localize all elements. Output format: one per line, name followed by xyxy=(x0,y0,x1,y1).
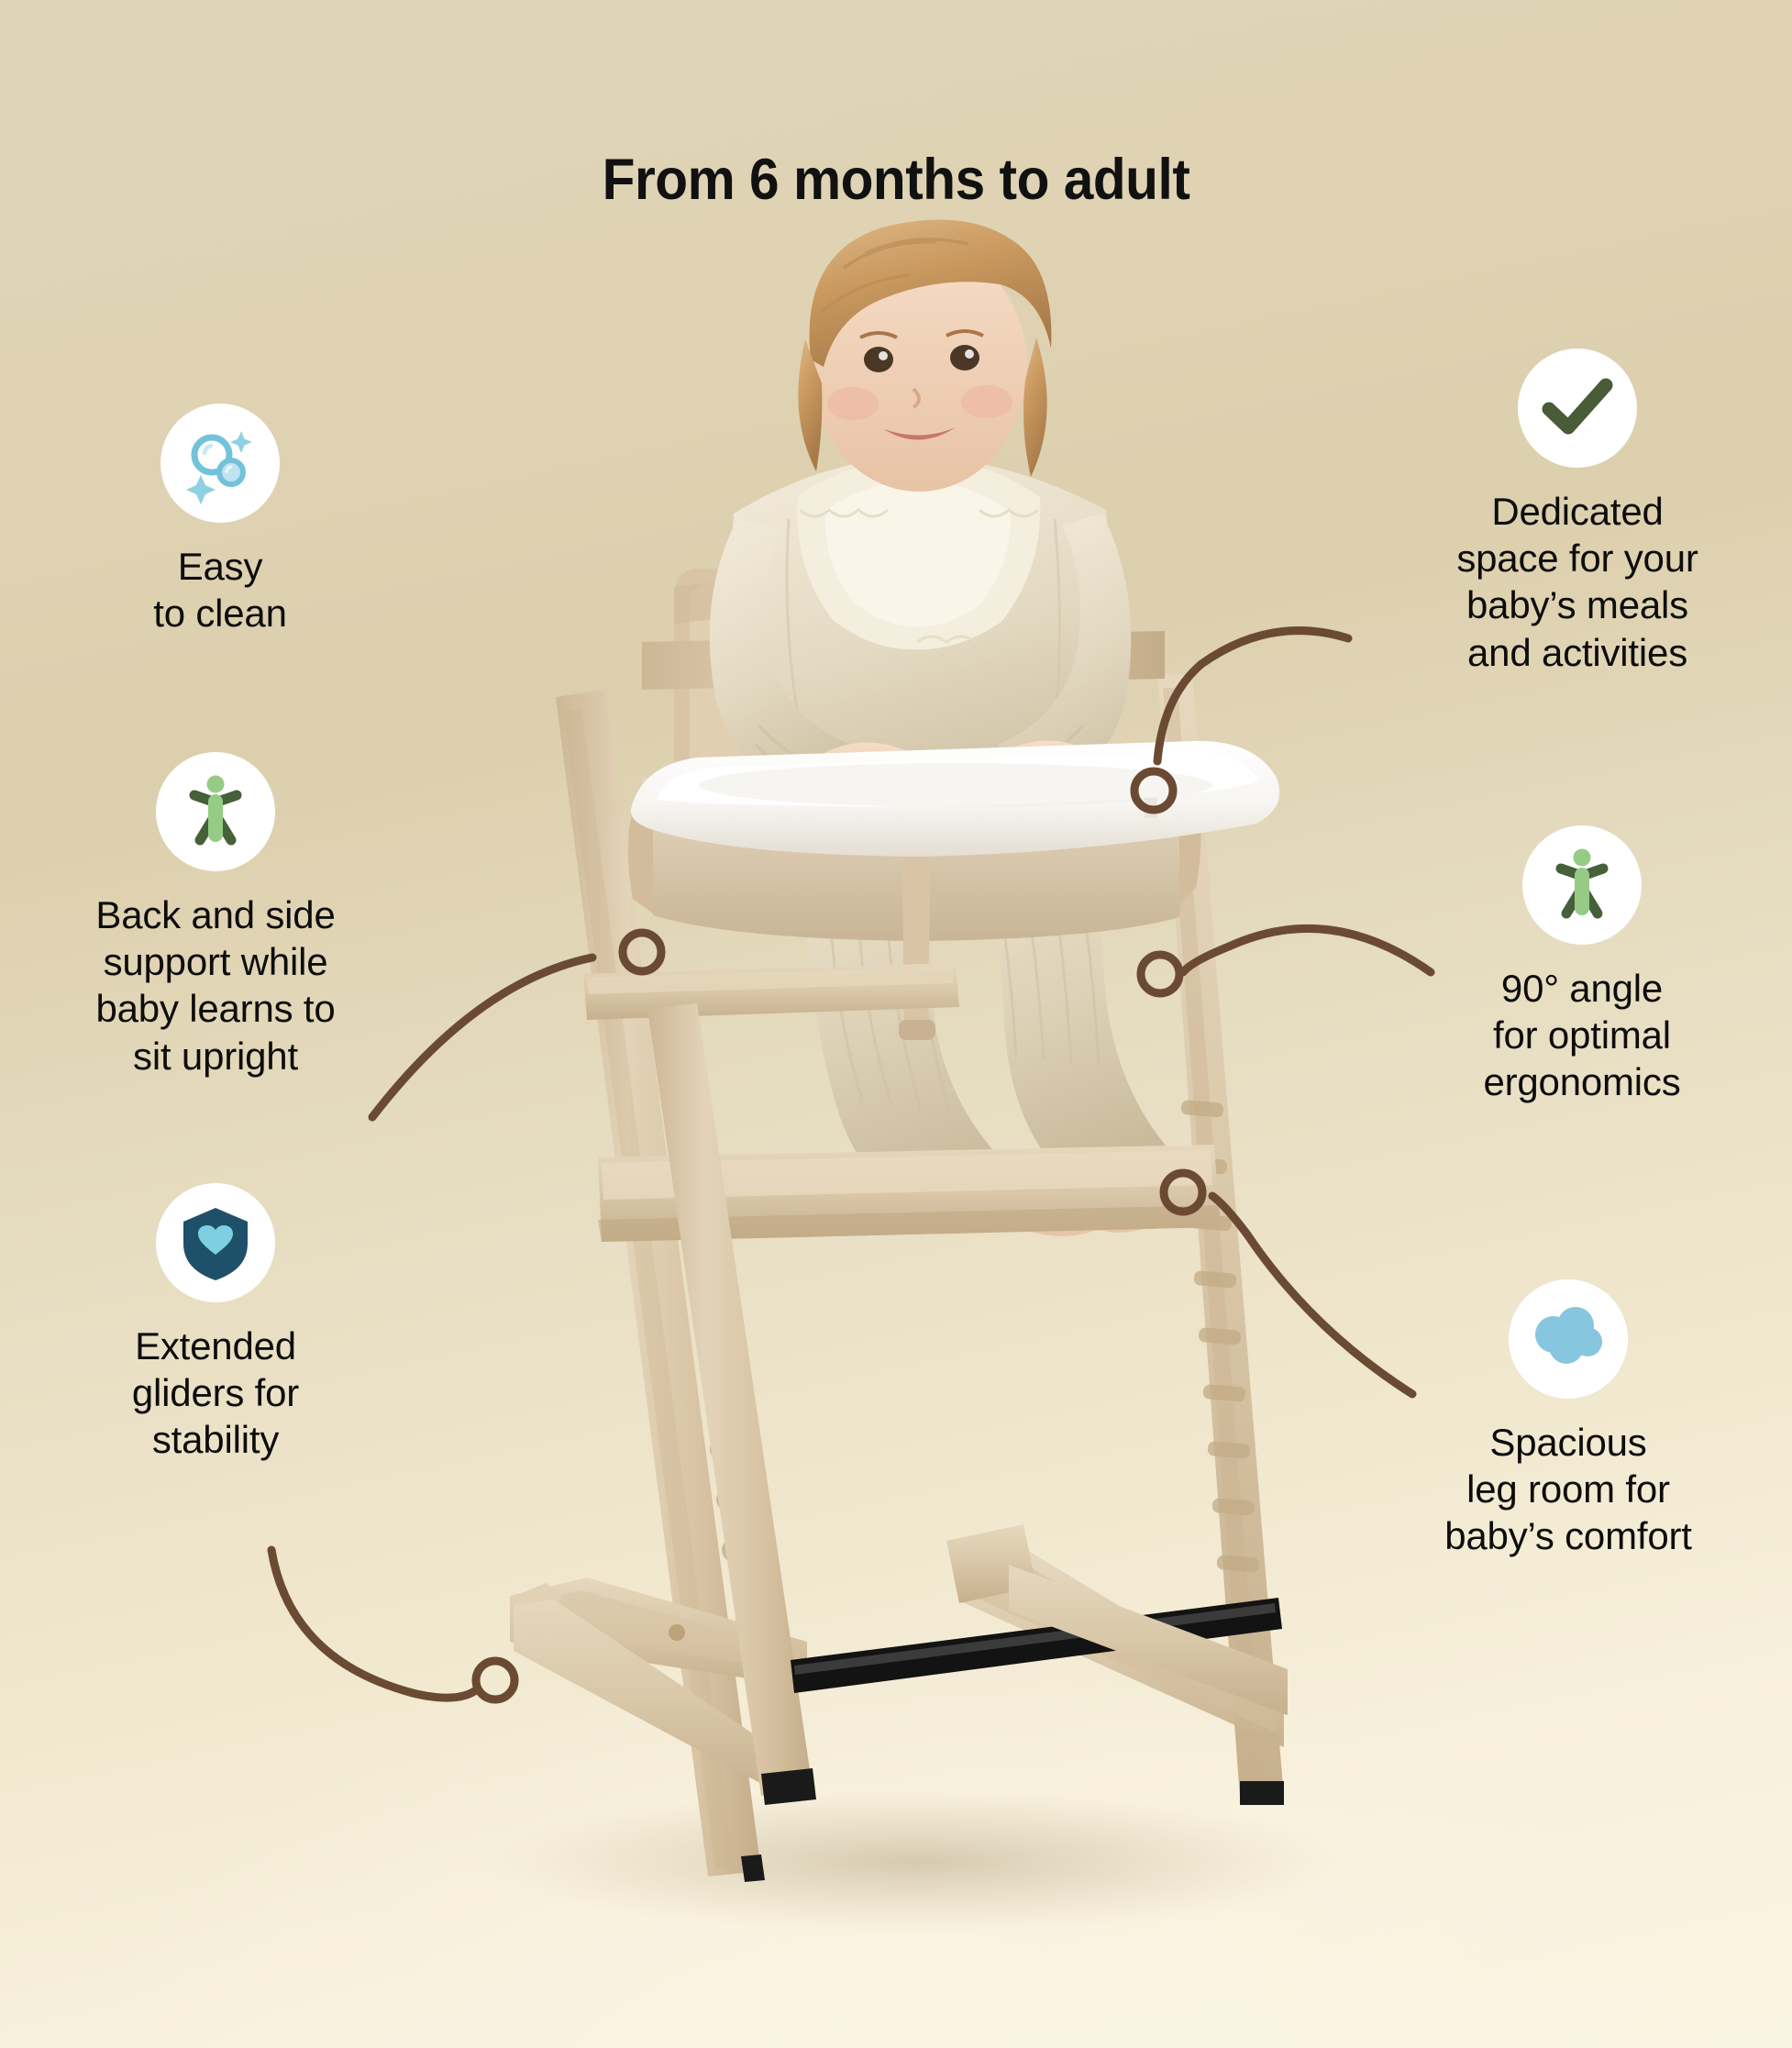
badge-extended-gliders xyxy=(156,1183,275,1302)
feature-back-and-side-support: Back and side support while baby learns … xyxy=(32,752,399,1079)
cloud-icon xyxy=(1526,1307,1610,1371)
feature-label: Spacious leg room for baby’s comfort xyxy=(1385,1419,1752,1560)
badge-back-and-side-support xyxy=(156,752,275,871)
page-title: From 6 months to adult xyxy=(62,147,1729,213)
badge-easy-to-clean xyxy=(160,404,280,523)
feature-label: Easy to clean xyxy=(55,543,385,637)
badge-dedicated-space xyxy=(1518,349,1637,468)
feature-label: Extended gliders for stability xyxy=(64,1323,367,1464)
ergonomic-figure-icon xyxy=(176,772,255,851)
badge-spacious-leg-room xyxy=(1509,1279,1628,1399)
feature-label: 90° angle for optimal ergonomics xyxy=(1431,965,1733,1106)
ergonomic-figure-icon xyxy=(1543,846,1621,924)
shield-heart-icon xyxy=(178,1203,253,1282)
feature-extended-gliders: Extended gliders for stability xyxy=(64,1183,367,1464)
checkmark-icon xyxy=(1538,376,1617,440)
badge-ninety-degree-angle xyxy=(1522,825,1642,945)
feature-label: Back and side support while baby learns … xyxy=(32,891,399,1079)
feature-ninety-degree-angle: 90° angle for optimal ergonomics xyxy=(1431,825,1733,1106)
feature-dedicated-space: Dedicated space for your baby’s meals an… xyxy=(1399,349,1756,676)
feature-label: Dedicated space for your baby’s meals an… xyxy=(1399,488,1756,676)
baby xyxy=(710,220,1183,1236)
infographic-canvas: From 6 months to adult Easy to clean xyxy=(0,0,1792,2048)
feature-easy-to-clean: Easy to clean xyxy=(55,404,385,637)
bubbles-sparkle-icon xyxy=(179,422,261,504)
feature-spacious-leg-room: Spacious leg room for baby’s comfort xyxy=(1385,1279,1752,1560)
